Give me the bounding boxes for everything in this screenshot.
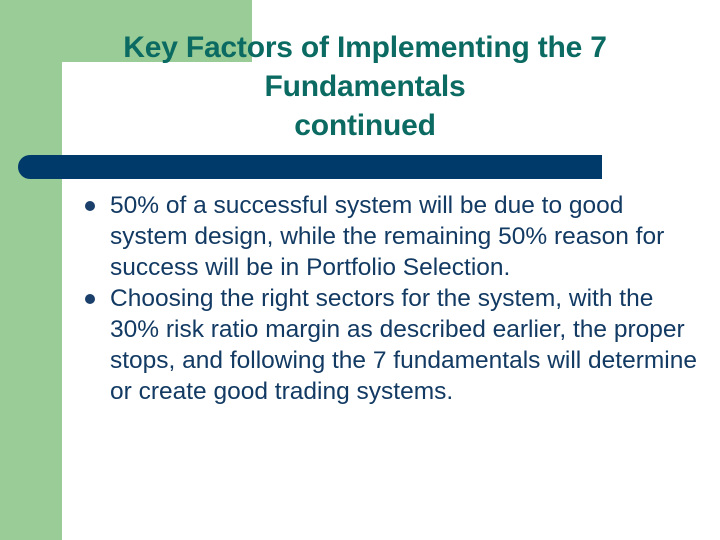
- presentation-slide: Key Factors of Implementing the 7 Fundam…: [0, 0, 720, 540]
- disc-bullet-icon: [85, 294, 95, 304]
- slide-body-bullet-list: 50% of a successful system will be due t…: [78, 190, 703, 407]
- title-accent-bar: [18, 155, 602, 179]
- list-item: 50% of a successful system will be due t…: [78, 190, 703, 283]
- list-item-text: Choosing the right sectors for the syste…: [110, 283, 703, 407]
- green-left-band: [0, 0, 62, 540]
- slide-title: Key Factors of Implementing the 7 Fundam…: [60, 28, 670, 145]
- slide-title-line-3: continued: [60, 106, 670, 145]
- disc-bullet-icon: [85, 201, 95, 211]
- slide-title-line-1: Key Factors of Implementing the 7: [60, 28, 670, 67]
- list-item: Choosing the right sectors for the syste…: [78, 283, 703, 407]
- slide-title-line-2: Fundamentals: [60, 67, 670, 106]
- list-item-text: 50% of a successful system will be due t…: [110, 190, 703, 283]
